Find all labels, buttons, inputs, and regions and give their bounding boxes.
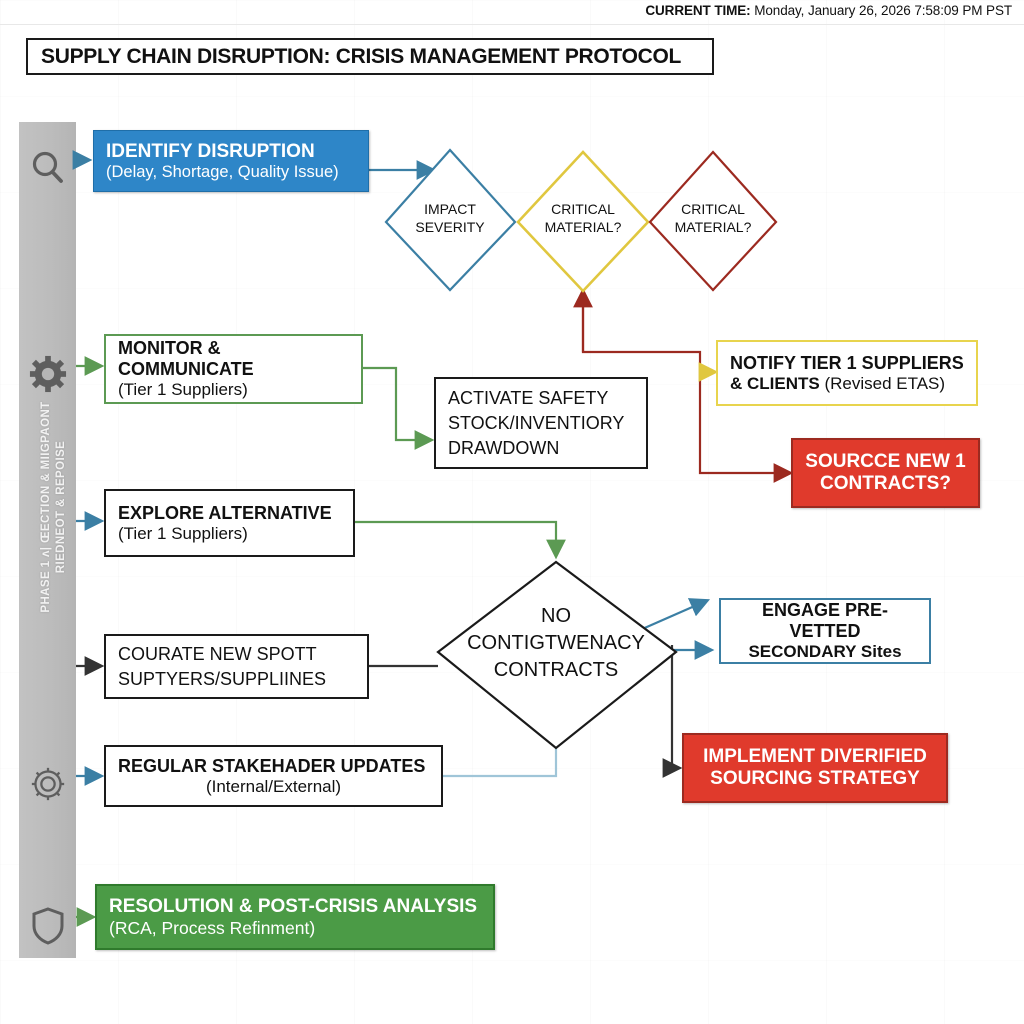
node-updates-line1: REGULAR STAKEHADER UPDATES (118, 756, 429, 777)
node-notify-tier1[interactable]: NOTIFY TIER 1 SUPPLIERS & CLIENTS (Revis… (716, 340, 978, 406)
no-contingency-line1: NO (446, 603, 666, 630)
node-engage-secondary-sites[interactable]: ENGAGE PRE-VETTED SECONDARY Sites (719, 598, 931, 664)
node-source-new-line1: SOURCCE NEW 1 (805, 451, 966, 473)
decision-critical-material-2[interactable] (650, 152, 776, 290)
node-identify-disruption-line2: (Delay, Shortage, Quality Issue) (106, 163, 356, 182)
phase-vertical-label-line1: PHASE 1 ʌ| ŒECTION & MIIGPAONT (39, 382, 54, 632)
critical2-line1: CRITICAL (658, 200, 768, 218)
node-identify-disruption-line1: IDENTIFY DISRUPTION (106, 141, 356, 163)
node-monitor-communicate[interactable]: MONITOR & COMMUNICATE (Tier 1 Suppliers) (104, 334, 363, 404)
node-monitor-communicate-line1: MONITOR & COMMUNICATE (118, 338, 349, 380)
decision-no-contingency[interactable] (438, 562, 676, 748)
node-regular-stakeholder-updates[interactable]: REGULAR STAKEHADER UPDATES (Internal/Ext… (104, 745, 443, 807)
decision-critical-material-1-label: CRITICAL MATERIAL? (528, 200, 638, 236)
node-implement-line1: IMPLEMENT DIVERIFIED (696, 746, 934, 768)
node-engage-line2-regular: Sites (861, 642, 902, 661)
critical1-line2: MATERIAL? (528, 218, 638, 236)
node-notify-line2-regular: (Revised ETAS) (824, 374, 945, 393)
decision-impact-severity-label: IMPACT SEVERITY (400, 200, 500, 236)
impact-line2: SEVERITY (400, 218, 500, 236)
no-contingency-line2: CONTIGTWENACY (446, 630, 666, 657)
decision-no-contingency-label: NO CONTIGTWENACY CONTRACTS (446, 603, 666, 684)
page-title-text: SUPPLY CHAIN DISRUPTION: CRISIS MANAGEME… (41, 45, 681, 69)
decision-critical-material-2-label: CRITICAL MATERIAL? (658, 200, 768, 236)
node-identify-disruption[interactable]: IDENTIFY DISRUPTION (Delay, Shortage, Qu… (93, 130, 369, 192)
node-activate-line3: DRAWDOWN (448, 436, 634, 461)
no-contingency-line3: CONTRACTS (446, 657, 666, 684)
node-activate-line1: ACTIVATE SAFETY (448, 386, 634, 411)
node-updates-line2: (Internal/External) (118, 777, 429, 797)
node-implement-diversified-sourcing[interactable]: IMPLEMENT DIVERIFIED SOURCING STRATEGY (682, 733, 948, 803)
impact-line1: IMPACT (400, 200, 500, 218)
critical2-line2: MATERIAL? (658, 218, 768, 236)
critical1-line1: CRITICAL (528, 200, 638, 218)
node-resolution-post-crisis[interactable]: RESOLUTION & POST-CRISIS ANALYSIS (RCA, … (95, 884, 495, 950)
current-time-label: CURRENT TIME: (645, 3, 750, 18)
node-notify-line1: NOTIFY TIER 1 SUPPLIERS (730, 353, 964, 374)
node-resolution-line1: RESOLUTION & POST-CRISIS ANALYSIS (109, 896, 481, 918)
search-icon (19, 136, 76, 200)
wire-explore-to-decision (355, 522, 556, 555)
node-curate-spot-suppliers[interactable]: COURATE NEW SPOTT SUPTYERS/SUPPLIINES (104, 634, 369, 699)
node-monitor-communicate-line2: (Tier 1 Suppliers) (118, 380, 349, 400)
wire-decision-to-engage-diag (640, 601, 706, 630)
current-time-value: Monday, January 26, 2026 7:58:09 PM PST (754, 3, 1012, 18)
wire-decision-to-implement (672, 645, 678, 768)
current-time: CURRENT TIME: Monday, January 26, 2026 7… (645, 3, 1012, 18)
page-title: SUPPLY CHAIN DISRUPTION: CRISIS MANAGEME… (26, 38, 714, 75)
node-implement-line2: SOURCING STRATEGY (696, 768, 934, 790)
gear-outline-icon (19, 752, 76, 816)
node-curate-line1: COURATE NEW SPOTT (118, 642, 355, 667)
flowchart-canvas: CURRENT TIME: Monday, January 26, 2026 7… (0, 0, 1024, 1024)
node-curate-line2: SUPTYERS/SUPPLIINES (118, 667, 355, 692)
wire-updates-to-decision (443, 746, 556, 776)
node-source-new-contracts[interactable]: SOURCCE NEW 1 CONTRACTS? (791, 438, 980, 508)
decision-critical-material-1[interactable] (518, 152, 648, 291)
node-engage-line1: ENGAGE PRE-VETTED (733, 600, 917, 642)
node-explore-alternative[interactable]: EXPLORE ALTERNATIVE (Tier 1 Suppliers) (104, 489, 355, 557)
node-notify-line2-bold: & CLIENTS (730, 374, 824, 393)
wire-monitor-to-activate (363, 368, 430, 440)
node-source-new-line2: CONTRACTS? (805, 473, 966, 495)
node-explore-line1: EXPLORE ALTERNATIVE (118, 503, 341, 524)
phase-sidebar: PHASE 1 ʌ| ŒECTION & MIIGPAONT RIEDNEOT … (19, 122, 76, 958)
node-engage-line2-bold: SECONDARY (748, 642, 860, 661)
node-resolution-line2: (RCA, Process Refinment) (109, 918, 481, 939)
header-divider (0, 24, 1024, 25)
phase-vertical-label: PHASE 1 ʌ| ŒECTION & MIIGPAONT RIEDNEOT … (39, 382, 69, 632)
decision-impact-severity[interactable] (386, 150, 515, 290)
shield-icon (19, 894, 76, 958)
phase-vertical-label-line2: RIEDNEOT & REPOISE (54, 382, 69, 632)
node-activate-line2: STOCK/INVENTIORY (448, 411, 634, 436)
node-activate-safety-stock[interactable]: ACTIVATE SAFETY STOCK/INVENTIORY DRAWDOW… (434, 377, 648, 469)
node-explore-line2: (Tier 1 Suppliers) (118, 524, 341, 544)
